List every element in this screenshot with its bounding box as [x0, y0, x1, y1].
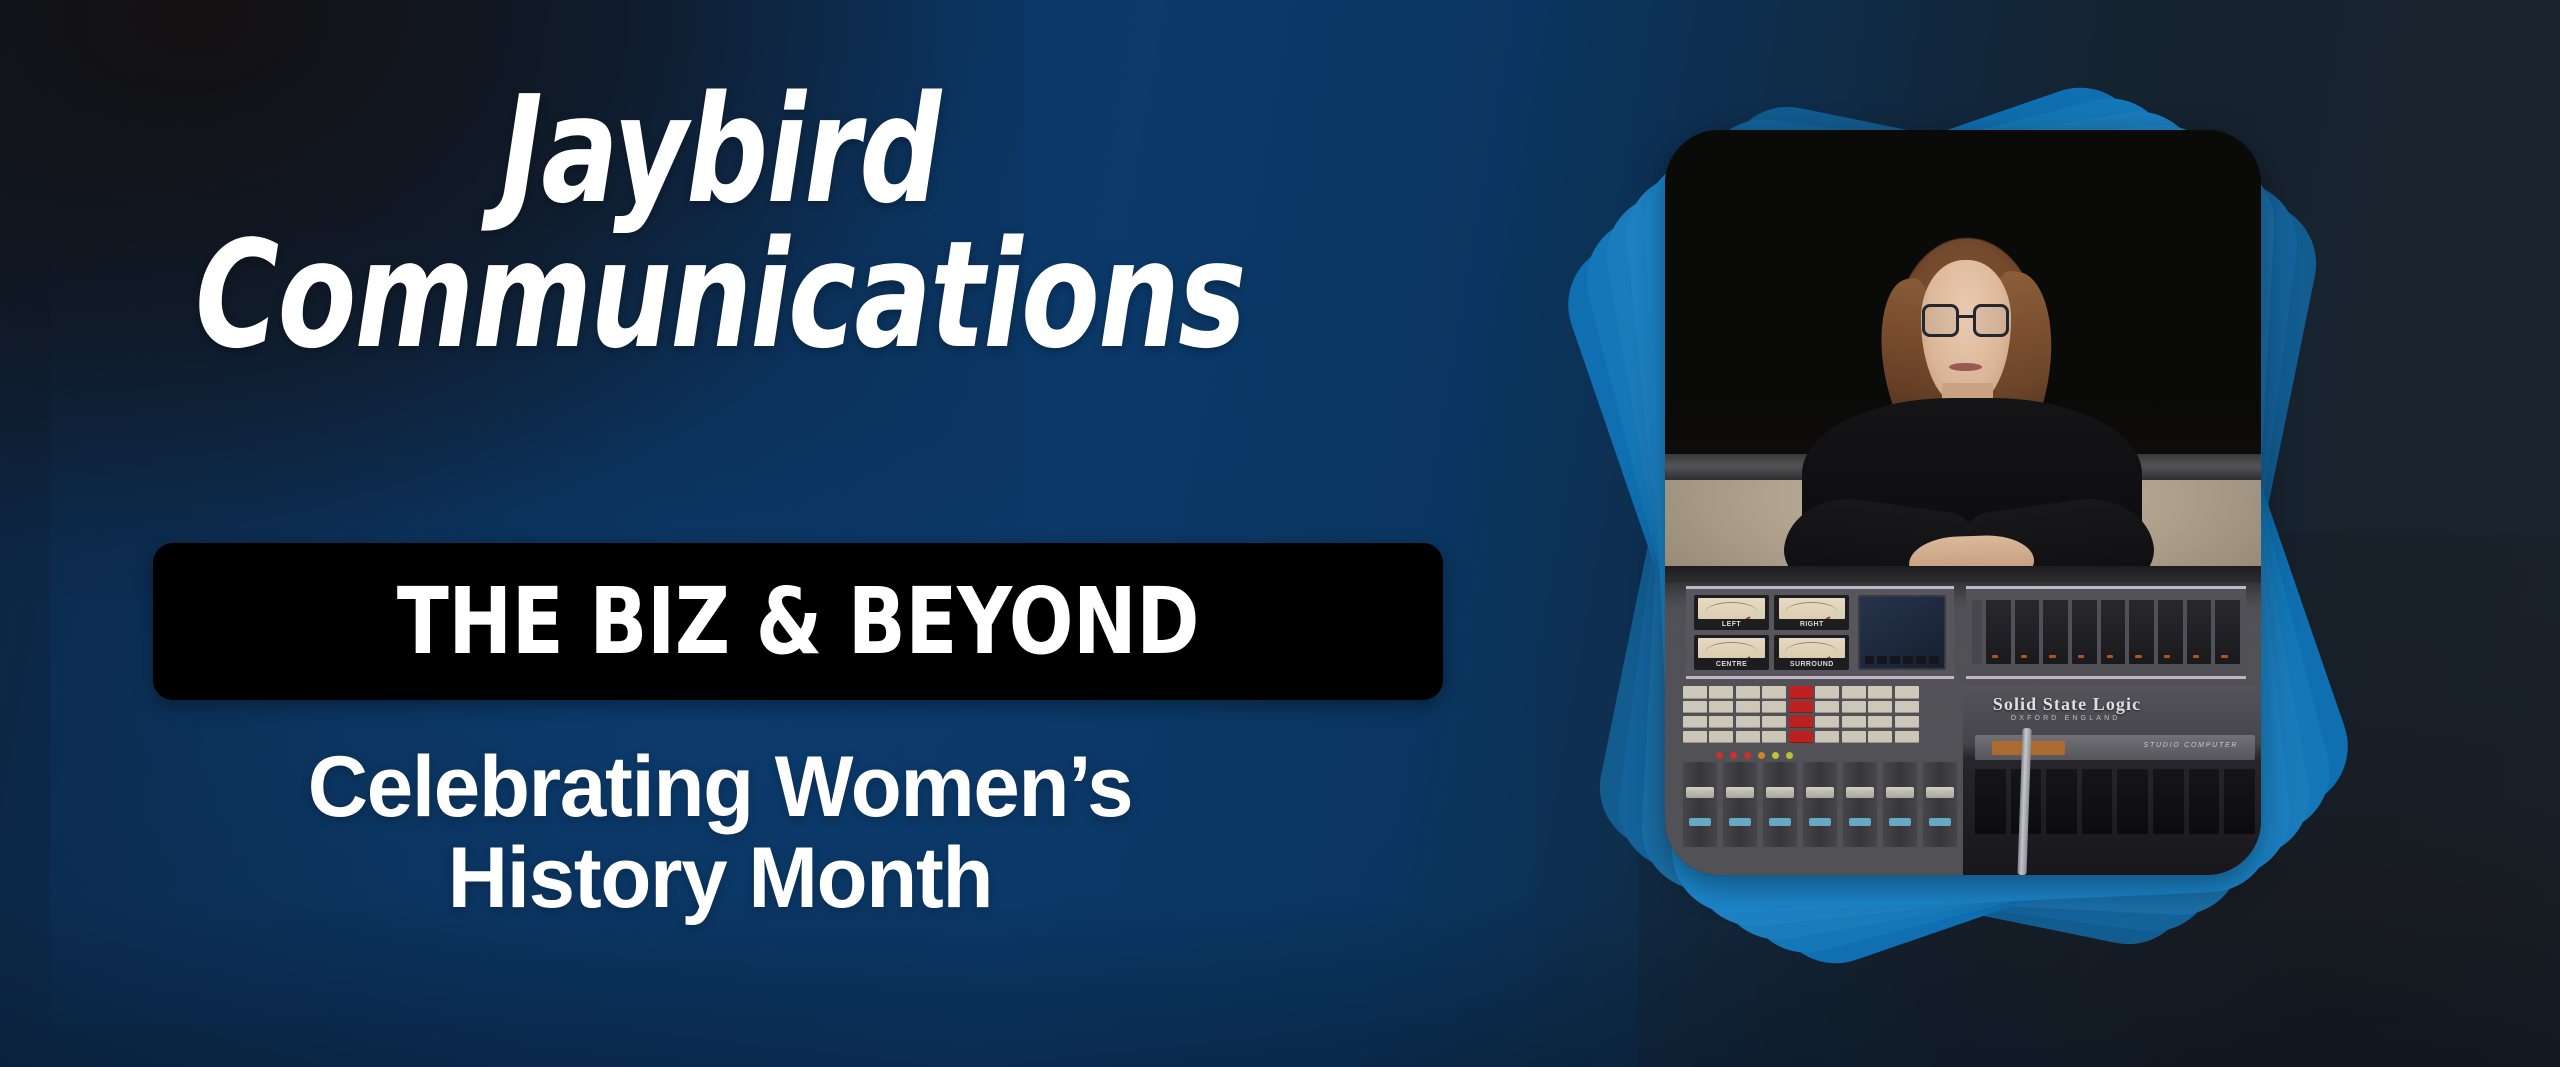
console-button [1842, 716, 1866, 728]
scope-button [1916, 656, 1926, 664]
fader-knob [1929, 818, 1951, 826]
console-brand-area: Solid State Logic OXFORD ENGLAND STUDIO … [1963, 686, 2261, 875]
fader-knob [1809, 818, 1831, 826]
console-button [1895, 731, 1919, 743]
console-button [1868, 701, 1892, 713]
console-key [2082, 769, 2113, 833]
channel-fader [1843, 762, 1877, 847]
scope-button [1929, 656, 1939, 664]
channel-fader [1723, 762, 1757, 847]
console-button [1683, 701, 1707, 713]
scope-button [1865, 656, 1875, 664]
console-button [1868, 686, 1892, 698]
vu-arc [1705, 602, 1758, 613]
vu-meter: SURROUND [1774, 635, 1849, 670]
console-button [1842, 686, 1866, 698]
console-button [1709, 716, 1733, 728]
console-button [1736, 731, 1760, 743]
photo-composition: LEFT RIGHT [1540, 0, 2560, 1067]
fader-cap [1886, 787, 1915, 798]
rack-module [2129, 600, 2154, 664]
rack-module [2043, 600, 2068, 664]
console-button [1709, 731, 1733, 743]
fader-cap [1726, 787, 1755, 798]
channel-fader [1803, 762, 1837, 847]
console-button [1895, 716, 1919, 728]
console-button [1815, 686, 1839, 698]
tagline: Celebrating Women’s History Month [0, 742, 1440, 924]
fader-cap [1766, 787, 1795, 798]
led-red [1730, 752, 1737, 759]
led-lime [1772, 752, 1779, 759]
vu-meter-grid: LEFT RIGHT [1694, 595, 1850, 670]
tagline-line-2: History Month [22, 833, 1419, 924]
console-button [1815, 701, 1839, 713]
vu-label-surround: SURROUND [1774, 661, 1849, 668]
vu-arc [1785, 642, 1838, 653]
show-title-label: THE BIZ & BEYOND [397, 576, 1199, 668]
vu-face [1779, 638, 1845, 659]
console-button [1762, 731, 1786, 743]
fader-cap [1686, 787, 1715, 798]
vu-needle [1725, 616, 1751, 619]
promo-banner: Jaybird Communications THE BIZ & BEYOND … [0, 0, 2560, 1067]
brand-name-line-2: Communications [101, 225, 1339, 366]
fader-cap [1846, 787, 1875, 798]
console-meter-strip: STUDIO COMPUTER [1975, 735, 2255, 760]
console-button-active [1789, 701, 1813, 713]
ssl-brand-sublabel: OXFORD ENGLAND [2011, 715, 2121, 722]
console-scope-display [1858, 595, 1947, 670]
vu-face [1779, 598, 1845, 619]
console-key-row [1975, 769, 2255, 833]
led-lime [1786, 752, 1793, 759]
console-button [1762, 701, 1786, 713]
rack-module [2215, 600, 2240, 664]
console-button [1842, 701, 1866, 713]
scope-button [1877, 656, 1887, 664]
rack-module [2015, 600, 2040, 664]
led-amber [1758, 752, 1765, 759]
vu-face [1698, 598, 1764, 619]
vu-face [1698, 638, 1764, 659]
console-button [1683, 716, 1707, 728]
fader-knob [1889, 818, 1911, 826]
channel-fader [1763, 762, 1797, 847]
console-button [1683, 686, 1707, 698]
console-button [1736, 716, 1760, 728]
console-key [2153, 769, 2184, 833]
console-button [1709, 686, 1733, 698]
glasses-bridge [1959, 315, 1973, 319]
brand-wordmark: Jaybird Communications [0, 80, 1440, 365]
console-fader-row [1683, 762, 1957, 866]
fader-knob [1849, 818, 1871, 826]
console-button [1868, 731, 1892, 743]
console-button [1842, 731, 1866, 743]
mixing-console: LEFT RIGHT [1665, 566, 2261, 875]
console-button-active [1789, 731, 1813, 743]
scope-button [1890, 656, 1900, 664]
ssl-brand-logo: Solid State Logic [1993, 694, 2141, 715]
scope-button [1903, 656, 1913, 664]
console-button-active [1789, 686, 1813, 698]
vu-arc [1705, 642, 1758, 653]
vu-meter-panel: LEFT RIGHT [1686, 586, 1954, 679]
console-key [1975, 769, 2006, 833]
console-button-active [1789, 716, 1813, 728]
rack-module [2158, 600, 2183, 664]
console-key [2224, 769, 2255, 833]
console-key [2117, 769, 2148, 833]
console-button [1895, 686, 1919, 698]
fader-knob [1729, 818, 1751, 826]
console-button [1683, 731, 1707, 743]
channel-fader [1923, 762, 1957, 847]
console-button [1762, 716, 1786, 728]
eyeglasses-icon [1922, 304, 2009, 337]
tagline-line-1: Celebrating Women’s [22, 742, 1419, 833]
vu-meter: RIGHT [1774, 595, 1849, 630]
led-red [1716, 752, 1723, 759]
vu-meter: LEFT [1694, 595, 1769, 630]
channel-fader [1683, 762, 1717, 847]
console-button [1736, 701, 1760, 713]
vu-label-centre: CENTRE [1694, 661, 1769, 668]
console-button [1868, 716, 1892, 728]
console-control-surface [1683, 686, 1957, 875]
host-photo: LEFT RIGHT [1665, 130, 2261, 875]
console-top-lip [1665, 566, 2261, 583]
console-key [2046, 769, 2077, 833]
vu-needle [1805, 656, 1831, 659]
vu-label-right: RIGHT [1774, 621, 1849, 628]
vu-needle [1725, 656, 1751, 659]
console-button [1895, 701, 1919, 713]
console-button [1709, 701, 1733, 713]
led-red [1744, 752, 1751, 759]
lens-left [1922, 304, 1959, 337]
vu-arc [1785, 602, 1838, 613]
rack-module [1986, 600, 2011, 664]
vu-label-left: LEFT [1694, 621, 1769, 628]
console-secondary-label: STUDIO COMPUTER [2144, 742, 2239, 749]
console-key [2189, 769, 2220, 833]
rack-module [2072, 600, 2097, 664]
lens-right [1973, 304, 2010, 337]
brand-name-line-1: Jaybird [101, 80, 1339, 221]
console-button-matrix [1683, 686, 1919, 743]
fader-knob [1769, 818, 1791, 826]
text-column: Jaybird Communications THE BIZ & BEYOND … [0, 0, 1520, 1067]
fader-knob [1689, 818, 1711, 826]
console-button [1762, 686, 1786, 698]
vu-needle [1805, 616, 1831, 619]
rack-module [2187, 600, 2212, 664]
show-title-bar: THE BIZ & BEYOND [153, 543, 1443, 700]
console-button [1815, 716, 1839, 728]
channel-fader [1883, 762, 1917, 847]
vu-meter: CENTRE [1694, 635, 1769, 670]
scope-button-row [1865, 656, 1939, 664]
console-button [1736, 686, 1760, 698]
rack-blank [1972, 600, 1982, 664]
console-led-row [1716, 751, 1842, 760]
fader-cap [1926, 787, 1955, 798]
channel-rack [1966, 586, 2246, 679]
fader-cap [1806, 787, 1835, 798]
rack-module [2101, 600, 2126, 664]
console-button [1815, 731, 1839, 743]
